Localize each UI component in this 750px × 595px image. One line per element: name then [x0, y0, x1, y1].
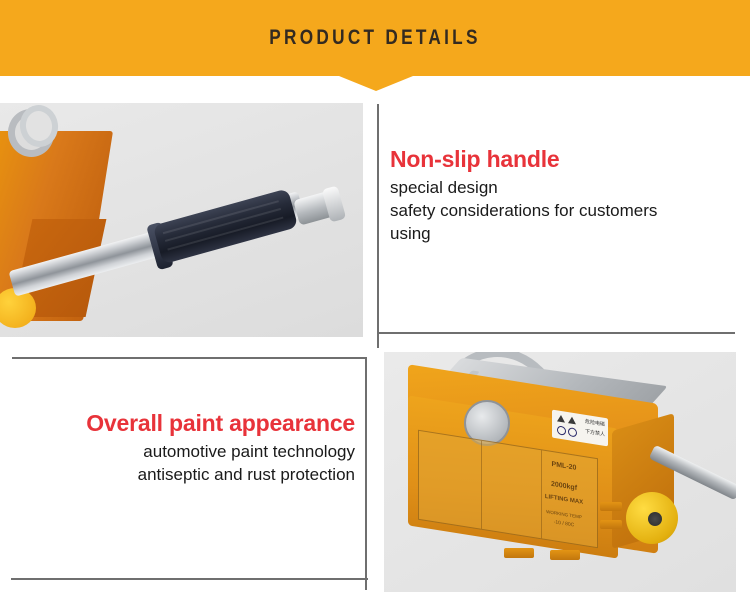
lifter-tab: [600, 520, 622, 529]
divider-horizontal-top: [377, 332, 735, 334]
page-title: PRODUCT DETAILS: [68, 0, 683, 76]
page-header-banner: PRODUCT DETAILS: [0, 0, 750, 76]
lifter-tab: [600, 502, 622, 511]
warning-text-line-1: 危险电磁: [585, 419, 605, 429]
divider-vertical-top: [377, 104, 379, 348]
magnet-hazard-icon: [557, 425, 566, 435]
photo-handle-closeup: [0, 103, 363, 337]
warning-triangle-icon: [568, 416, 576, 424]
section-non-slip-handle: Non-slip handle special design safety co…: [390, 144, 730, 245]
divider-vertical-bottom: [365, 357, 367, 590]
section-line: using: [390, 222, 730, 245]
product-details-page: PRODUCT DETAILS: [0, 0, 750, 595]
section-heading: Overall paint appearance: [20, 408, 355, 438]
section-line: antiseptic and rust protection: [20, 463, 355, 486]
nameplate-model: PML-20: [537, 458, 591, 476]
lifter-foot: [550, 550, 580, 560]
warning-text-line-2: 下方禁人: [585, 429, 605, 439]
divider-horizontal-bottom-lower: [11, 578, 368, 580]
photo-lifter-full: PML-20 2000kgf LIFTING MAX WORKING TEMP …: [384, 352, 736, 592]
section-line: automotive paint technology: [20, 440, 355, 463]
section-heading: Non-slip handle: [390, 144, 730, 174]
section-line: special design: [390, 176, 730, 199]
no-entry-icon: [568, 427, 577, 437]
divider-horizontal-bottom-upper: [12, 357, 367, 359]
section-line: safety considerations for customers: [390, 199, 730, 222]
lifter-knob-hole: [648, 512, 662, 526]
lifter-foot: [504, 548, 534, 558]
chevron-down-notch-icon: [339, 76, 413, 91]
section-overall-paint-appearance: Overall paint appearance automotive pain…: [20, 408, 355, 486]
warning-triangle-icon: [557, 414, 565, 422]
